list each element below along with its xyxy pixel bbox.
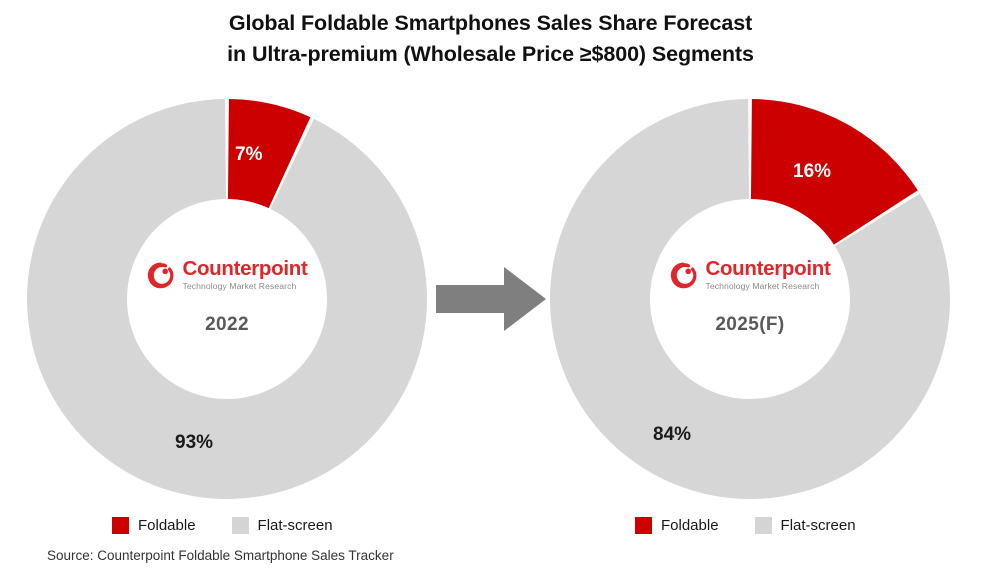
legend-swatch-foldable-icon xyxy=(112,517,129,534)
legend-swatch-flat-screen-icon xyxy=(755,517,772,534)
donut-2022-year-label: 2022 xyxy=(127,314,327,336)
source-note: Source: Counterpoint Foldable Smartphone… xyxy=(47,548,394,563)
donut-chart-2022: 7% 93% Counterpoint Technology Market Re… xyxy=(27,99,427,499)
legend-label-foldable: Foldable xyxy=(661,517,719,534)
legend-label-flat-screen: Flat-screen xyxy=(258,517,333,534)
brand-name-2025: Counterpoint xyxy=(705,259,830,280)
donut-2025-value-foldable: 16% xyxy=(793,161,831,183)
brand-name-2022: Counterpoint xyxy=(182,259,307,280)
page-title: Global Foldable Smartphones Sales Share … xyxy=(0,8,981,69)
legend-label-foldable: Foldable xyxy=(138,517,196,534)
legend-item-flat-screen[interactable]: Flat-screen xyxy=(232,517,333,534)
counterpoint-swirl-icon xyxy=(669,261,698,290)
legend-swatch-flat-screen-icon xyxy=(232,517,249,534)
legend-item-foldable[interactable]: Foldable xyxy=(635,517,719,534)
donut-2022-center: Counterpoint Technology Market Research … xyxy=(127,259,327,336)
donut-2025-center: Counterpoint Technology Market Research … xyxy=(650,259,850,336)
brand-logo-2025: Counterpoint Technology Market Research xyxy=(650,259,850,291)
legend-item-flat-screen[interactable]: Flat-screen xyxy=(755,517,856,534)
brand-tagline-2022: Technology Market Research xyxy=(182,281,307,292)
donut-2022-value-foldable: 7% xyxy=(235,144,262,166)
legend-2022: Foldable Flat-screen xyxy=(112,515,333,535)
counterpoint-swirl-icon xyxy=(146,261,175,290)
brand-wordmark-2025: Counterpoint Technology Market Research xyxy=(705,259,830,291)
legend-item-foldable[interactable]: Foldable xyxy=(112,517,196,534)
legend-label-flat-screen: Flat-screen xyxy=(781,517,856,534)
brand-logo-2022: Counterpoint Technology Market Research xyxy=(127,259,327,291)
donut-2025-value-flat-screen: 84% xyxy=(653,424,691,446)
page-title-line-1: Global Foldable Smartphones Sales Share … xyxy=(0,8,981,39)
donut-chart-2025: 16% 84% Counterpoint Technology Market R… xyxy=(550,99,950,499)
donut-2025-year-label: 2025(F) xyxy=(650,314,850,336)
donut-2022-value-flat-screen: 93% xyxy=(175,432,213,454)
arrow-right-icon xyxy=(436,267,546,331)
legend-swatch-foldable-icon xyxy=(635,517,652,534)
brand-wordmark-2022: Counterpoint Technology Market Research xyxy=(182,259,307,291)
page-title-line-2: in Ultra-premium (Wholesale Price ≥$800)… xyxy=(0,39,981,70)
legend-2025: Foldable Flat-screen xyxy=(635,515,856,535)
brand-tagline-2025: Technology Market Research xyxy=(705,281,830,292)
